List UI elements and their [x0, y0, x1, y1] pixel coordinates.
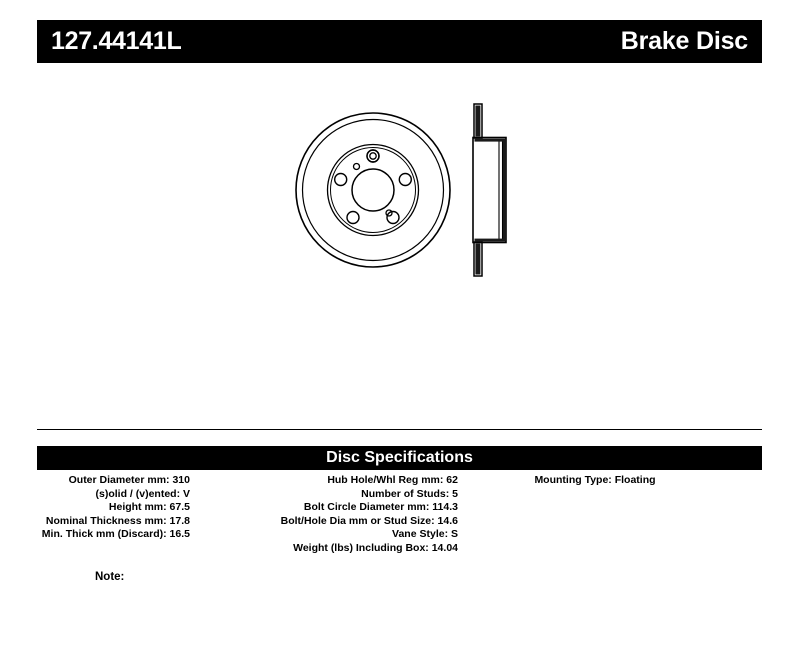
drawing-area [0, 80, 800, 410]
note-field: Note: [95, 570, 128, 584]
specifications-header-bar: Disc Specifications [37, 446, 762, 470]
spec-row: Min. Thick mm (Discard): 16.5 [0, 528, 190, 542]
spec-column-left: Outer Diameter mm: 310 (s)olid / (v)ente… [0, 474, 190, 542]
brake-disc-technical-drawing [290, 90, 530, 290]
spec-row: Hub Hole/Whl Reg mm: 62 [200, 474, 458, 488]
part-number: 127.44141L [51, 29, 181, 54]
brake-disc-side-profile-view [473, 104, 506, 276]
header-bar: 127.44141L Brake Disc [37, 20, 762, 63]
spec-row: Height mm: 67.5 [0, 501, 190, 515]
brake-disc-front-view [296, 113, 450, 267]
spec-row: Bolt/Hole Dia mm or Stud Size: 14.6 [200, 515, 458, 529]
specifications-title: Disc Specifications [326, 450, 473, 466]
spec-row: Mounting Type: Floating [470, 474, 720, 488]
spec-row: Vane Style: S [200, 528, 458, 542]
spec-row: Bolt Circle Diameter mm: 114.3 [200, 501, 458, 515]
spec-row: Nominal Thickness mm: 17.8 [0, 515, 190, 529]
note-label: Note: [95, 571, 124, 583]
spec-column-right: Mounting Type: Floating [470, 474, 720, 488]
spec-column-center: Hub Hole/Whl Reg mm: 62 Number of Studs:… [200, 474, 458, 555]
section-divider [37, 429, 762, 430]
spec-row: Number of Studs: 5 [200, 488, 458, 502]
spec-row: (s)olid / (v)ented: V [0, 488, 190, 502]
page-title: Brake Disc [621, 29, 748, 54]
spec-row: Outer Diameter mm: 310 [0, 474, 190, 488]
spec-row: Weight (lbs) Including Box: 14.04 [200, 542, 458, 556]
